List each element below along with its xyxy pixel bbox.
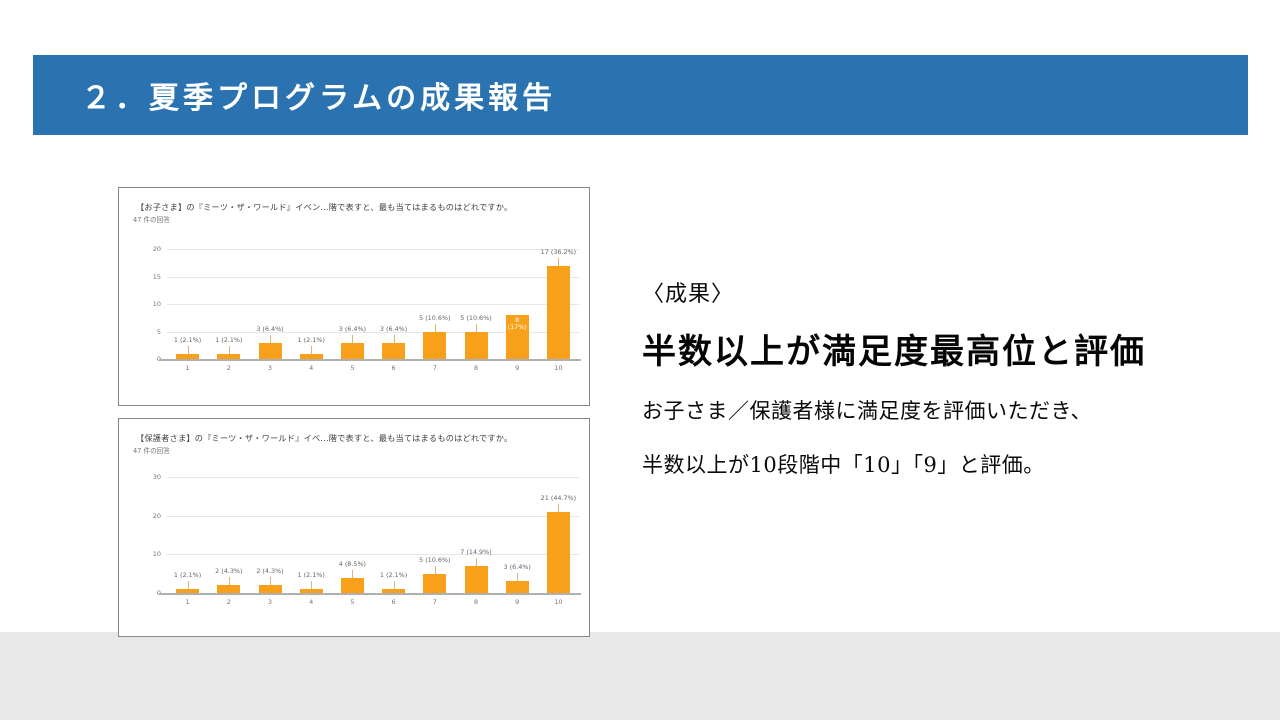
bar[interactable] (176, 589, 199, 593)
bar[interactable] (341, 578, 364, 593)
bar-value-label: 3 (6.4%) (488, 563, 546, 571)
y-axis-tick-label: 10 (139, 300, 161, 308)
label-leader-line (188, 346, 189, 354)
slide-title-bar: ２．夏季プログラムの成果報告 (33, 55, 1248, 135)
results-body-line-1: お子さま／保護者様に満足度を評価いただき、 (642, 395, 1202, 425)
x-axis-tick-label: 10 (538, 364, 578, 372)
label-leader-line (476, 558, 477, 566)
bar-value-label: 7 (14.9%) (447, 548, 505, 556)
grid-line (167, 554, 579, 555)
bar[interactable] (176, 354, 199, 360)
x-axis-tick-label: 10 (538, 598, 578, 606)
bar[interactable] (465, 332, 488, 360)
x-axis-tick-label: 1 (168, 598, 208, 606)
chart-plot-guardians: 01020301 (2.1%)12 (4.3%)22 (4.3%)31 (2.1… (119, 419, 589, 636)
bar-value-label: 3 (6.4%) (241, 325, 299, 333)
chart-card-children: 【お子さま】の『ミーツ・ザ・ワールド』イベン...階で表すと、最も当てはまるもの… (118, 187, 590, 406)
bar-value-label: 4 (8.5%) (323, 560, 381, 568)
x-axis-tick-label: 6 (374, 364, 414, 372)
bar[interactable] (341, 343, 364, 360)
x-axis-tick-label: 2 (209, 364, 249, 372)
grid-line (167, 516, 579, 517)
grid-line (167, 304, 579, 305)
grid-line (167, 249, 579, 250)
label-leader-line (188, 581, 189, 589)
label-leader-line (352, 335, 353, 343)
y-axis-tick-label: 15 (139, 273, 161, 281)
page-title: ２．夏季プログラムの成果報告 (81, 73, 556, 117)
x-axis-line (159, 593, 581, 595)
bar[interactable] (217, 585, 240, 593)
label-leader-line (435, 566, 436, 574)
label-leader-line (229, 346, 230, 354)
x-axis-tick-label: 2 (209, 598, 249, 606)
bar[interactable] (423, 332, 446, 360)
bar-value-label: 1 (2.1%) (282, 571, 340, 579)
bar[interactable] (300, 354, 323, 360)
y-axis-tick-label: 30 (139, 473, 161, 481)
results-label: 〈成果〉 (642, 276, 1202, 308)
y-axis-tick-label: 0 (139, 589, 161, 597)
x-axis-line (159, 359, 581, 361)
bar-value-label: 1 (2.1%) (365, 571, 423, 579)
x-axis-tick-label: 9 (497, 364, 537, 372)
x-axis-tick-label: 4 (291, 364, 331, 372)
bar[interactable] (547, 512, 570, 593)
chart-card-guardians: 【保護者さま】の『ミーツ・ザ・ワールド』イベ...階で表すと、最も当てはまるもの… (118, 418, 590, 637)
x-axis-tick-label: 4 (291, 598, 331, 606)
label-leader-line (311, 346, 312, 354)
bar[interactable] (300, 589, 323, 593)
label-leader-line (270, 335, 271, 343)
bar[interactable] (382, 589, 405, 593)
x-axis-tick-label: 1 (168, 364, 208, 372)
x-axis-tick-label: 5 (332, 364, 372, 372)
bar-value-label: 1 (2.1%) (282, 336, 340, 344)
x-axis-tick-label: 7 (415, 598, 455, 606)
bar[interactable] (382, 343, 405, 360)
x-axis-tick-label: 6 (374, 598, 414, 606)
y-axis-tick-label: 0 (139, 355, 161, 363)
bar-value-label: 17 (36.2%) (529, 248, 587, 256)
label-leader-line (352, 570, 353, 578)
y-axis-tick-label: 5 (139, 328, 161, 336)
grid-line (167, 277, 579, 278)
bar[interactable] (217, 354, 240, 360)
bar-value-label: 5 (10.6%) (406, 556, 464, 564)
bar[interactable] (259, 343, 282, 360)
slide-canvas: ２．夏季プログラムの成果報告 【お子さま】の『ミーツ・ザ・ワールド』イベン...… (0, 0, 1280, 720)
x-axis-tick-label: 5 (332, 598, 372, 606)
bottom-band (0, 632, 1280, 720)
results-headline: 半数以上が満足度最高位と評価 (642, 324, 1202, 373)
y-axis-tick-label: 20 (139, 512, 161, 520)
results-text-block: 〈成果〉 半数以上が満足度最高位と評価 お子さま／保護者様に満足度を評価いただき… (642, 276, 1202, 503)
label-leader-line (517, 573, 518, 581)
results-body-line-2: 半数以上が10段階中「10」「9」と評価。 (642, 449, 1202, 479)
bar[interactable] (547, 266, 570, 360)
bar-value-label: 1 (2.1%) (200, 336, 258, 344)
x-axis-tick-label: 3 (250, 598, 290, 606)
label-leader-line (229, 577, 230, 585)
y-axis-tick-label: 10 (139, 550, 161, 558)
label-leader-line (311, 581, 312, 589)
label-leader-line (394, 335, 395, 343)
x-axis-tick-label: 7 (415, 364, 455, 372)
bar-value-label: 3 (6.4%) (365, 325, 423, 333)
bar[interactable] (259, 585, 282, 593)
label-leader-line (476, 324, 477, 332)
label-leader-line (558, 504, 559, 512)
y-axis-tick-label: 20 (139, 245, 161, 253)
bar[interactable] (465, 566, 488, 593)
x-axis-tick-label: 9 (497, 598, 537, 606)
label-leader-line (558, 258, 559, 266)
x-axis-tick-label: 8 (456, 598, 496, 606)
label-leader-line (394, 581, 395, 589)
bar[interactable] (506, 581, 529, 593)
chart-plot-children: 051015201 (2.1%)11 (2.1%)23 (6.4%)31 (2.… (119, 188, 589, 405)
label-leader-line (270, 577, 271, 585)
bar-value-label: 21 (44.7%) (529, 494, 587, 502)
grid-line (167, 477, 579, 478)
label-leader-line (435, 324, 436, 332)
bar[interactable] (423, 574, 446, 593)
x-axis-tick-label: 8 (456, 364, 496, 372)
bar-value-label: 8(17%) (488, 317, 546, 332)
x-axis-tick-label: 3 (250, 364, 290, 372)
